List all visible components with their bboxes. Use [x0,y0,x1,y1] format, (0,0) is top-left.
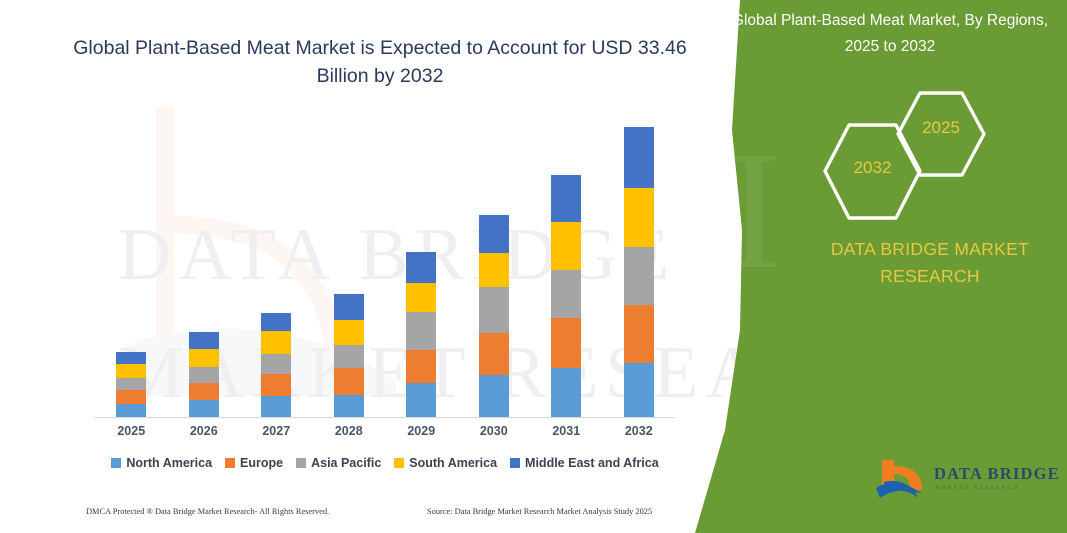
legend-label: Asia Pacific [311,456,381,470]
bar-segment[interactable] [551,368,581,417]
bar-segment[interactable] [406,350,436,383]
bar-column-2026[interactable] [189,332,219,417]
x-tick-2029: 2029 [385,424,458,438]
bar-segment[interactable] [116,390,146,404]
bar-segment[interactable] [551,222,581,270]
bar-segment[interactable] [261,374,291,396]
hexagon-badges: 2032 2025 [820,88,1000,223]
bar-segment[interactable] [406,383,436,417]
bar-segment[interactable] [479,375,509,417]
bar-segment[interactable] [624,188,654,247]
footer: DMCA Protected ® Data Bridge Market Rese… [0,507,700,527]
left-chart-panel: DATA BRIDGEMARKET RESEARCH Global Plant-… [0,0,760,533]
x-axis-tick-labels: 20252026202720282029203020312032 [95,424,675,444]
legend-label: Europe [240,456,283,470]
hexagon-2025-label: 2025 [893,118,989,138]
data-bridge-mark-icon [874,458,930,504]
bar-column-2032[interactable] [624,127,654,417]
legend-label: South America [409,456,497,470]
bar-segment[interactable] [624,363,654,417]
legend-swatch-icon [296,458,306,468]
bar-segment[interactable] [551,318,581,368]
bar-column-2025[interactable] [116,352,146,417]
bar-segment[interactable] [479,253,509,287]
legend-label: Middle East and Africa [525,456,659,470]
bar-segment[interactable] [479,287,509,333]
legend-swatch-icon [111,458,121,468]
bar-segment[interactable] [261,396,291,417]
x-tick-2026: 2026 [168,424,241,438]
bar-segment[interactable] [479,333,509,375]
bar-segment[interactable] [334,294,364,320]
x-tick-2028: 2028 [313,424,386,438]
bar-segment[interactable] [189,349,219,367]
bar-segment[interactable] [334,395,364,417]
bar-segment[interactable] [624,127,654,188]
infographic-root: DATA BRIDGEMARKET RESEARCH Global Plant-… [0,0,1067,533]
bar-segment[interactable] [406,252,436,283]
legend-item[interactable]: Asia Pacific [296,456,381,470]
x-tick-2030: 2030 [458,424,531,438]
footer-source: Source: Data Bridge Market Research Mark… [427,507,652,516]
legend-item[interactable]: South America [394,456,497,470]
x-tick-2032: 2032 [603,424,676,438]
bar-segment[interactable] [334,368,364,395]
bar-segment[interactable] [189,332,219,349]
stacked-bar-chart [95,118,675,418]
bar-segment[interactable] [116,404,146,417]
bar-segment[interactable] [334,320,364,345]
right-panel-title: Global Plant-Based Meat Market, By Regio… [730,8,1050,60]
legend-swatch-icon [225,458,235,468]
bar-segment[interactable] [116,352,146,364]
legend-item[interactable]: Europe [225,456,283,470]
bar-segment[interactable] [189,383,219,400]
bar-column-2027[interactable] [261,313,291,417]
legend-swatch-icon [510,458,520,468]
bar-segment[interactable] [116,378,146,390]
bar-segment[interactable] [261,313,291,331]
x-axis-line [95,417,675,418]
bar-segment[interactable] [189,367,219,383]
x-tick-2025: 2025 [95,424,168,438]
bar-column-2029[interactable] [406,252,436,417]
bar-column-2028[interactable] [334,294,364,417]
logo-tagline: MARKET RESEARCH [935,485,1019,491]
bar-segment[interactable] [624,305,654,363]
bar-segment[interactable] [261,331,291,354]
bar-segment[interactable] [551,270,581,318]
bar-segment[interactable] [406,283,436,312]
bar-segment[interactable] [116,364,146,378]
bar-segment[interactable] [624,247,654,305]
chart-plot-area [95,118,675,418]
x-tick-2031: 2031 [530,424,603,438]
bar-column-2030[interactable] [479,215,509,417]
legend-item[interactable]: North America [111,456,212,470]
x-tick-2027: 2027 [240,424,313,438]
bar-segment[interactable] [479,215,509,253]
chart-legend: North AmericaEuropeAsia PacificSouth Ame… [95,456,675,470]
bar-segment[interactable] [261,354,291,374]
data-bridge-logo: DATA BRIDGE MARKET RESEARCH [874,458,1064,504]
bar-column-2031[interactable] [551,175,581,417]
bar-segment[interactable] [406,312,436,350]
footer-copyright: DMCA Protected ® Data Bridge Market Rese… [86,507,329,516]
legend-swatch-icon [394,458,404,468]
logo-wordmark: DATA BRIDGE [934,464,1060,484]
legend-item[interactable]: Middle East and Africa [510,456,659,470]
brand-name: DATA BRIDGE MARKETRESEARCH [760,236,1067,290]
legend-label: North America [126,456,212,470]
bar-segment[interactable] [551,175,581,222]
bar-segment[interactable] [334,345,364,368]
bar-segment[interactable] [189,400,219,417]
page-title: Global Plant-Based Meat Market is Expect… [60,34,700,90]
